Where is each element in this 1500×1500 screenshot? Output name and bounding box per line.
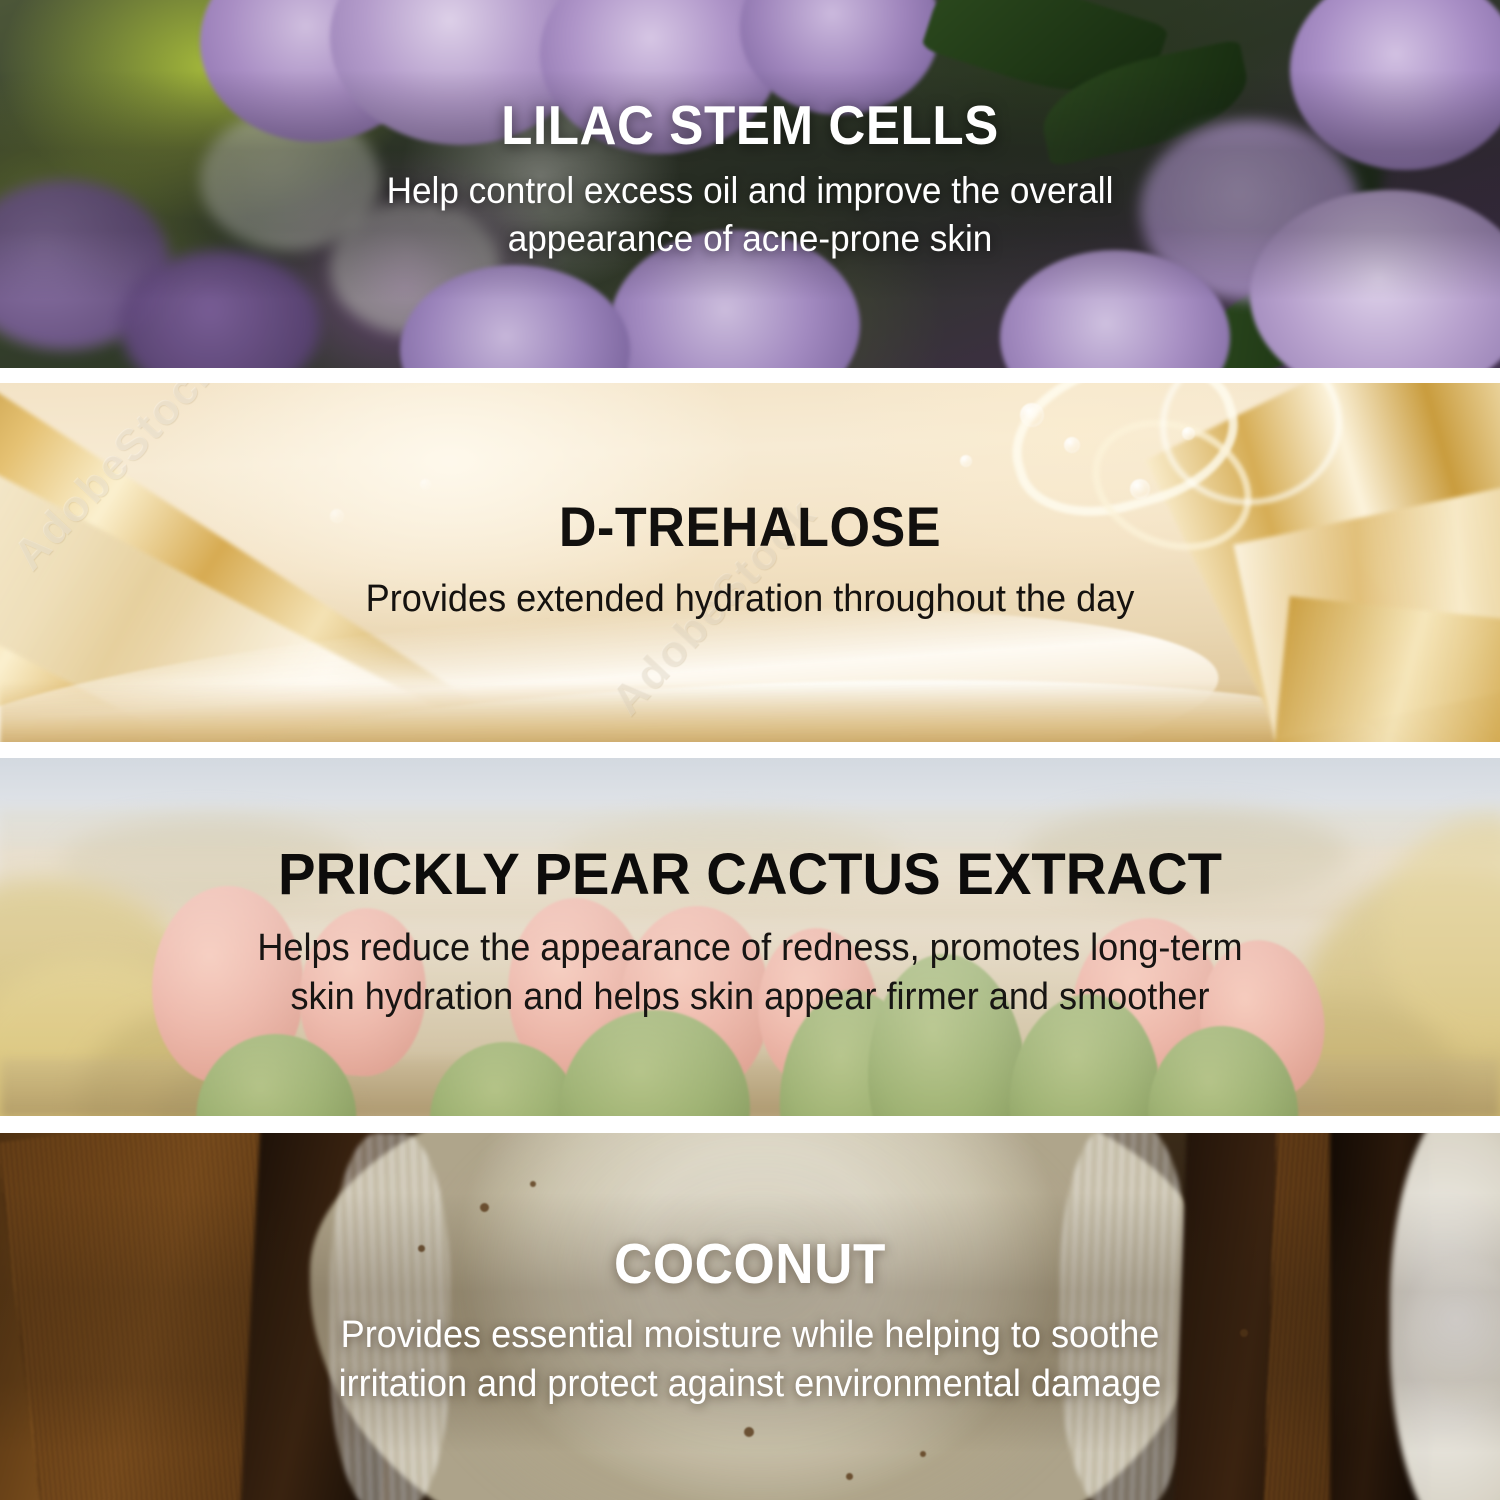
- cactus-text-block: PRICKLY PEAR CACTUS EXTRACT Helps reduce…: [0, 846, 1500, 1023]
- ingredient-panel-stack: LILAC STEM CELLS Help control excess oil…: [0, 0, 1500, 1500]
- coconut-title: COCONUT: [90, 1236, 1411, 1293]
- cactus-subtitle: Helps reduce the appearance of redness, …: [76, 924, 1425, 1023]
- lilac-subtitle-line-2: appearance of acne-prone skin: [508, 218, 993, 259]
- trehalose-subtitle: Provides extended hydration throughout t…: [76, 575, 1425, 624]
- panel-prickly-pear-cactus-extract: PRICKLY PEAR CACTUS EXTRACT Helps reduce…: [0, 758, 1500, 1116]
- coconut-subtitle: Provides essential moisture while helpin…: [76, 1311, 1425, 1410]
- lilac-text-block: LILAC STEM CELLS Help control excess oil…: [0, 98, 1500, 263]
- panel-divider-1: [0, 368, 1500, 383]
- lilac-subtitle-line-1: Help control excess oil and improve the …: [387, 170, 1114, 211]
- cactus-title: PRICKLY PEAR CACTUS EXTRACT: [61, 846, 1438, 904]
- coconut-subtitle-line-1: Provides essential moisture while helpin…: [341, 1314, 1160, 1356]
- panel-divider-3: [0, 1116, 1500, 1133]
- cactus-subtitle-line-1: Helps reduce the appearance of redness, …: [257, 927, 1242, 969]
- coconut-text-block: COCONUT Provides essential moisture whil…: [0, 1236, 1500, 1410]
- lilac-title: LILAC STEM CELLS: [90, 98, 1411, 153]
- panel-divider-2: [0, 742, 1500, 758]
- panel-lilac-stem-cells: LILAC STEM CELLS Help control excess oil…: [0, 0, 1500, 368]
- lilac-subtitle: Help control excess oil and improve the …: [76, 167, 1425, 263]
- cactus-subtitle-line-2: skin hydration and helps skin appear fir…: [290, 976, 1209, 1018]
- trehalose-title: D-TREHALOSE: [90, 499, 1411, 555]
- panel-d-trehalose: AdobeStock AdobeStock D-TREHALOSE Provid…: [0, 383, 1500, 742]
- trehalose-text-block: D-TREHALOSE Provides extended hydration …: [0, 499, 1500, 624]
- coconut-subtitle-line-2: irritation and protect against environme…: [339, 1363, 1162, 1405]
- panel-coconut: COCONUT Provides essential moisture whil…: [0, 1133, 1500, 1500]
